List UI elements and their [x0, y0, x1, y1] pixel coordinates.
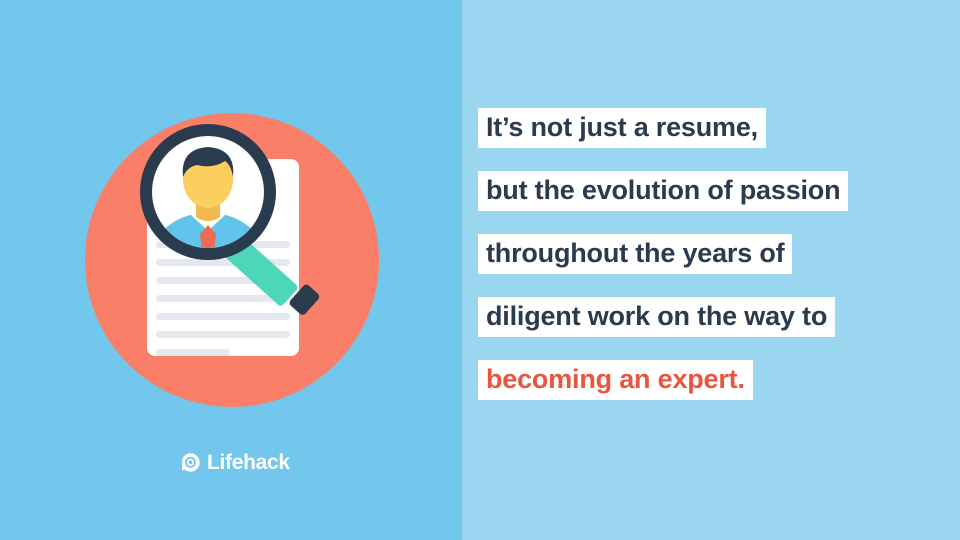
quote-line-5: becoming an expert.	[478, 360, 753, 400]
quote-line-4: diligent work on the way to	[478, 297, 835, 337]
quote-line-2: but the evolution of passion	[478, 171, 848, 211]
quote-block: It’s not just a resume, but the evolutio…	[478, 108, 948, 400]
image-canvas: Lifehack It’s not just a resume, but the…	[0, 0, 960, 540]
lifehack-logo-text: Lifehack	[207, 452, 290, 473]
quote-line-1: It’s not just a resume,	[478, 108, 766, 148]
lifehack-logo[interactable]: Lifehack	[180, 452, 290, 473]
lifehack-circle-icon	[180, 452, 201, 473]
resume-search-illustration	[85, 113, 379, 407]
document-and-magnifier-graphic	[85, 113, 379, 407]
quote-line-3: throughout the years of	[478, 234, 792, 274]
